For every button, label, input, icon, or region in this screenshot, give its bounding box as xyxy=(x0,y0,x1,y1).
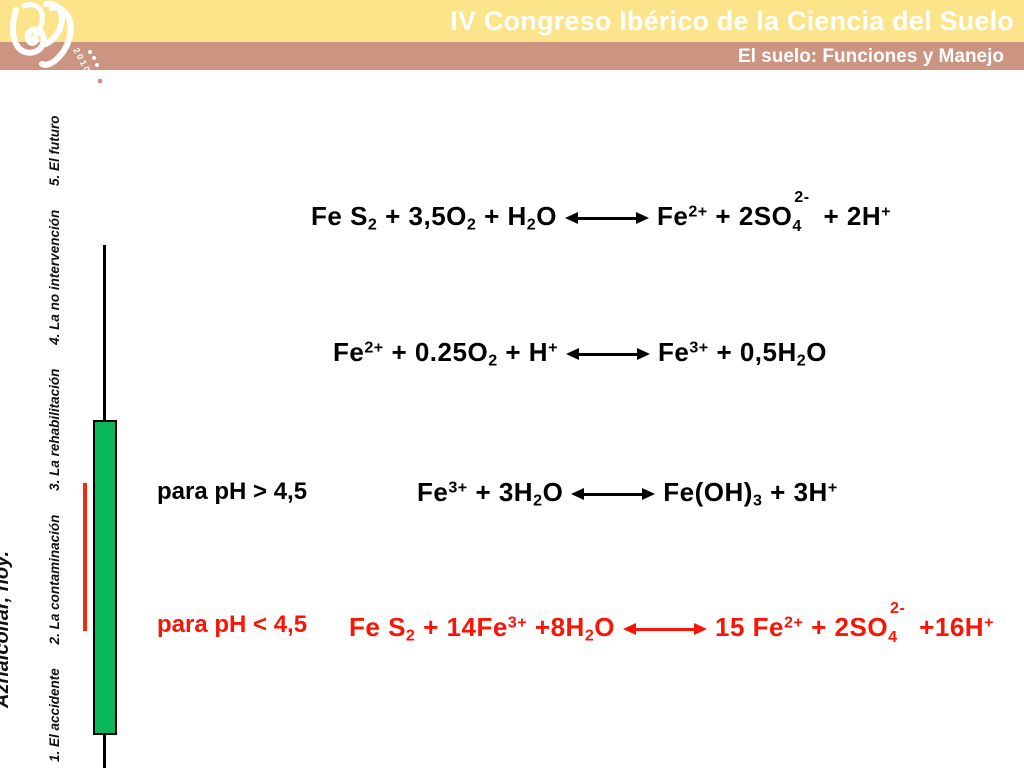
sidebar-item-1-el-accidente[interactable]: 1. El accidente xyxy=(47,668,62,762)
congress-title: IV Congreso Ibérico de la Ciencia del Su… xyxy=(450,3,1014,39)
eq-text: + 2SO xyxy=(803,612,888,642)
eq-text: + 14Fe xyxy=(415,612,507,642)
eq-text: + 2H xyxy=(816,201,881,231)
eq-superscript: 3+ xyxy=(689,339,708,357)
eq-subscript: 2 xyxy=(533,492,542,510)
eq-sup-sub-pair: 42- xyxy=(888,610,911,636)
eq-text: +16H xyxy=(911,612,984,642)
eq-text: O xyxy=(806,337,827,367)
eq-text: Fe(OH) xyxy=(663,477,753,507)
sidebar-item-3-la-rehabilitacion[interactable]: 3. La rehabilitación xyxy=(47,369,62,491)
eq-text: Fe xyxy=(333,337,364,367)
reversible-arrow-icon xyxy=(565,210,649,226)
eq-text: O xyxy=(594,612,615,642)
congress-subtitle: El suelo: Funciones y Manejo xyxy=(738,44,1004,69)
eq-subscript: 2 xyxy=(406,627,415,645)
eq-subscript: 2 xyxy=(488,352,497,370)
eq-text: +8H xyxy=(527,612,585,642)
eq-text: Fe S xyxy=(311,201,368,231)
ph-label-high: para pH > 4,5 xyxy=(157,478,307,506)
eq-subscript: 2 xyxy=(467,216,476,234)
eq-superscript: 2+ xyxy=(784,614,803,632)
reversible-arrow-icon xyxy=(571,486,655,502)
eq-superscript: + xyxy=(881,203,891,221)
sidebar-item-5-el-futuro[interactable]: 5. El futuro xyxy=(47,116,62,187)
nav-items-list: 1. El accidente 2. La contaminación 3. L… xyxy=(62,62,78,762)
slide-canvas: IV Congreso Ibérico de la Ciencia del Su… xyxy=(0,0,1024,768)
reversible-arrow-icon xyxy=(566,346,650,362)
nav-current-marker xyxy=(83,483,87,631)
eq-text: O xyxy=(536,201,557,231)
eq-text: + H xyxy=(476,201,526,231)
nav-progress-bar[interactable] xyxy=(93,420,117,735)
eq-superscript: + xyxy=(828,479,838,497)
eq-text: + 0,5H xyxy=(709,337,797,367)
eq-superscript: 3+ xyxy=(508,614,527,632)
eq-subscript: 2 xyxy=(585,627,594,645)
equation-2: Fe2+ + 0.25O2 + H+Fe3+ + 0,5H2O xyxy=(333,337,827,368)
eq-superscript: 3+ xyxy=(448,479,467,497)
sidebar-item-2-la-contaminacion[interactable]: 2. La contaminación xyxy=(47,515,62,645)
section-title: Aznalcóllar, hoy. xyxy=(0,551,14,708)
reversible-arrow-icon xyxy=(623,621,707,637)
eq-text: + 0.25O xyxy=(384,337,488,367)
eq-superscript: + xyxy=(548,339,558,357)
eq-text: 15 Fe xyxy=(715,612,784,642)
eq-text: + 2SO xyxy=(708,201,793,231)
sidebar-item-4-la-no-intervencion[interactable]: 4. La no intervención xyxy=(47,210,62,345)
eq-sup-sub-pair: 42- xyxy=(792,199,815,225)
eq-text: Fe xyxy=(417,477,448,507)
eq-text: O xyxy=(543,477,564,507)
eq-superscript: 2+ xyxy=(688,203,707,221)
equation-4: Fe S2 + 14Fe3+ +8H2O15 Fe2+ + 2SO42- +16… xyxy=(349,610,994,643)
section-title-wrap: Aznalcóllar, hoy. xyxy=(14,468,44,708)
eq-text: + 3,5O xyxy=(377,201,467,231)
equation-3: Fe3+ + 3H2OFe(OH)3 + 3H+ xyxy=(417,477,838,508)
eq-text: + 3H xyxy=(762,477,827,507)
eq-text: Fe xyxy=(658,337,689,367)
eq-subscript: 2 xyxy=(527,216,536,234)
eq-text: Fe S xyxy=(349,612,406,642)
ph-label-low: para pH < 4,5 xyxy=(157,611,307,639)
eq-text: Fe xyxy=(657,201,688,231)
eq-superscript: 2+ xyxy=(364,339,383,357)
eq-text: + H xyxy=(498,337,548,367)
eq-subscript: 2 xyxy=(797,352,806,370)
equation-1: Fe S2 + 3,5O2 + H2OFe2+ + 2SO42- + 2H+ xyxy=(311,199,891,232)
eq-text: + 3H xyxy=(468,477,533,507)
eq-superscript: + xyxy=(984,614,994,632)
eq-subscript: 2 xyxy=(368,216,377,234)
